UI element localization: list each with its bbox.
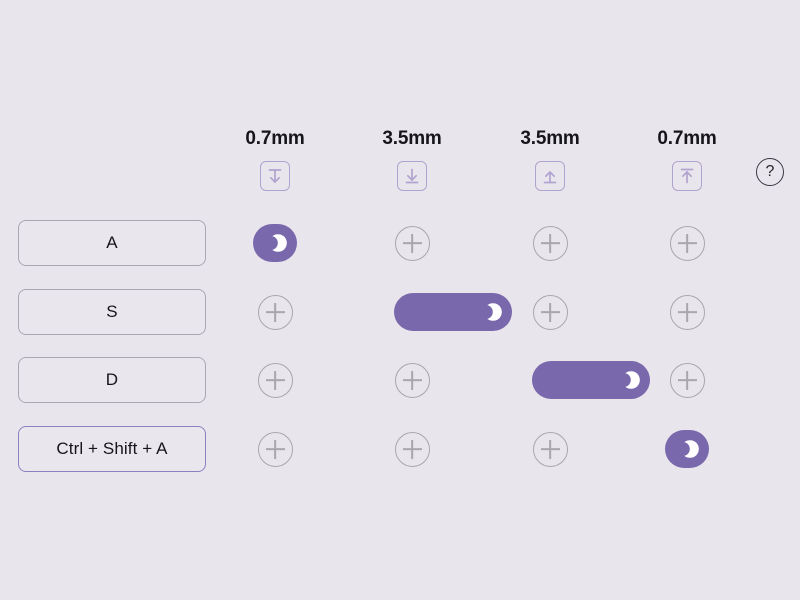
add-plus-icon[interactable]	[533, 432, 568, 467]
grid-cell-row-a-col-2	[352, 220, 472, 266]
grid-cell-row-a-col-4	[627, 220, 747, 266]
question-mark-icon[interactable]: ?	[756, 158, 784, 186]
arrow-up-from-bar-icon[interactable]	[535, 161, 565, 191]
add-plus-icon[interactable]	[258, 432, 293, 467]
column-header-label: 0.7mm	[627, 128, 747, 150]
add-plus-icon[interactable]	[533, 295, 568, 330]
grid-cell-row-s-col-3	[490, 289, 610, 335]
grid-cell-row-d-col-4	[627, 357, 747, 403]
grid-cell-row-a-col-3	[490, 220, 610, 266]
column-header-2: 3.5mm	[352, 128, 472, 191]
pressure-dot-row-a-col-1[interactable]	[253, 224, 297, 262]
column-header-4: 0.7mm	[627, 128, 747, 191]
grid-cell-row-s-col-4	[627, 289, 747, 335]
add-plus-icon[interactable]	[533, 226, 568, 261]
key-button-row-s[interactable]: S	[18, 289, 206, 335]
column-header-3: 3.5mm	[490, 128, 610, 191]
grid-cell-row-csa-col-2	[352, 426, 472, 472]
column-header-1: 0.7mm	[215, 128, 335, 191]
add-plus-icon[interactable]	[258, 363, 293, 398]
arrow-down-from-bar-icon[interactable]	[260, 161, 290, 191]
grid-cell-row-csa-col-1	[215, 426, 335, 472]
grid-cell-row-csa-col-3	[490, 426, 610, 472]
column-header-label: 0.7mm	[215, 128, 335, 150]
key-button-row-d[interactable]: D	[18, 357, 206, 403]
column-header-label: 3.5mm	[490, 128, 610, 150]
add-plus-icon[interactable]	[258, 295, 293, 330]
column-header-label: 3.5mm	[352, 128, 472, 150]
add-plus-icon[interactable]	[395, 432, 430, 467]
arrow-down-to-bar-icon[interactable]	[397, 161, 427, 191]
arrow-up-to-bar-icon[interactable]	[672, 161, 702, 191]
add-plus-icon[interactable]	[395, 226, 430, 261]
keybinding-pressure-grid: 0.7mm3.5mm3.5mm0.7mm?ASDCtrl + Shift + A	[0, 0, 800, 600]
key-button-row-a[interactable]: A	[18, 220, 206, 266]
grid-cell-row-s-col-1	[215, 289, 335, 335]
add-plus-icon[interactable]	[670, 295, 705, 330]
grid-cell-row-d-col-1	[215, 357, 335, 403]
add-plus-icon[interactable]	[395, 363, 430, 398]
add-plus-icon[interactable]	[670, 226, 705, 261]
grid-cell-row-d-col-2	[352, 357, 472, 403]
add-plus-icon[interactable]	[670, 363, 705, 398]
pressure-dot-row-csa-col-4[interactable]	[665, 430, 709, 468]
key-button-row-csa[interactable]: Ctrl + Shift + A	[18, 426, 206, 472]
